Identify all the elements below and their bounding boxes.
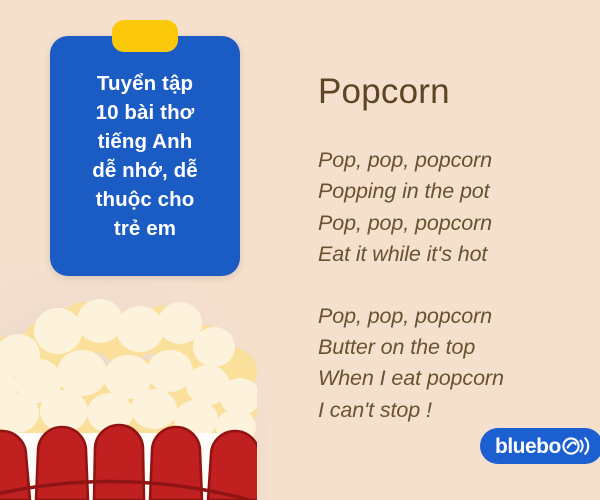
poem-line: Eat it while it's hot	[318, 239, 586, 270]
poem-stanza: Pop, pop, popcorn Butter on the top When…	[318, 301, 586, 427]
card-tab-accent	[112, 20, 178, 52]
brand-logo[interactable]: bluebo	[480, 428, 600, 464]
card-title: Tuyển tập 10 bài thơ tiếng Anh dễ nhớ, d…	[82, 69, 208, 244]
poem-panel: Popcorn Pop, pop, popcorn Popping in the…	[318, 72, 586, 426]
poem-stanza: Pop, pop, popcorn Popping in the pot Pop…	[318, 145, 586, 271]
signal-arc-icon	[562, 434, 590, 458]
poem-title: Popcorn	[318, 72, 586, 112]
popcorn-bucket-illustration	[0, 285, 257, 500]
brand-logo-text: bluebo	[495, 436, 561, 457]
poem-line: I can't stop !	[318, 395, 586, 426]
title-card: Tuyển tập 10 bài thơ tiếng Anh dễ nhớ, d…	[50, 36, 240, 276]
poem-line: Pop, pop, popcorn	[318, 208, 586, 239]
poem-line: Popping in the pot	[318, 176, 586, 207]
poem-line: Pop, pop, popcorn	[318, 301, 586, 332]
poem-line: Pop, pop, popcorn	[318, 145, 586, 176]
poem-line: Butter on the top	[318, 332, 586, 363]
poem-line: When I eat popcorn	[318, 363, 586, 394]
